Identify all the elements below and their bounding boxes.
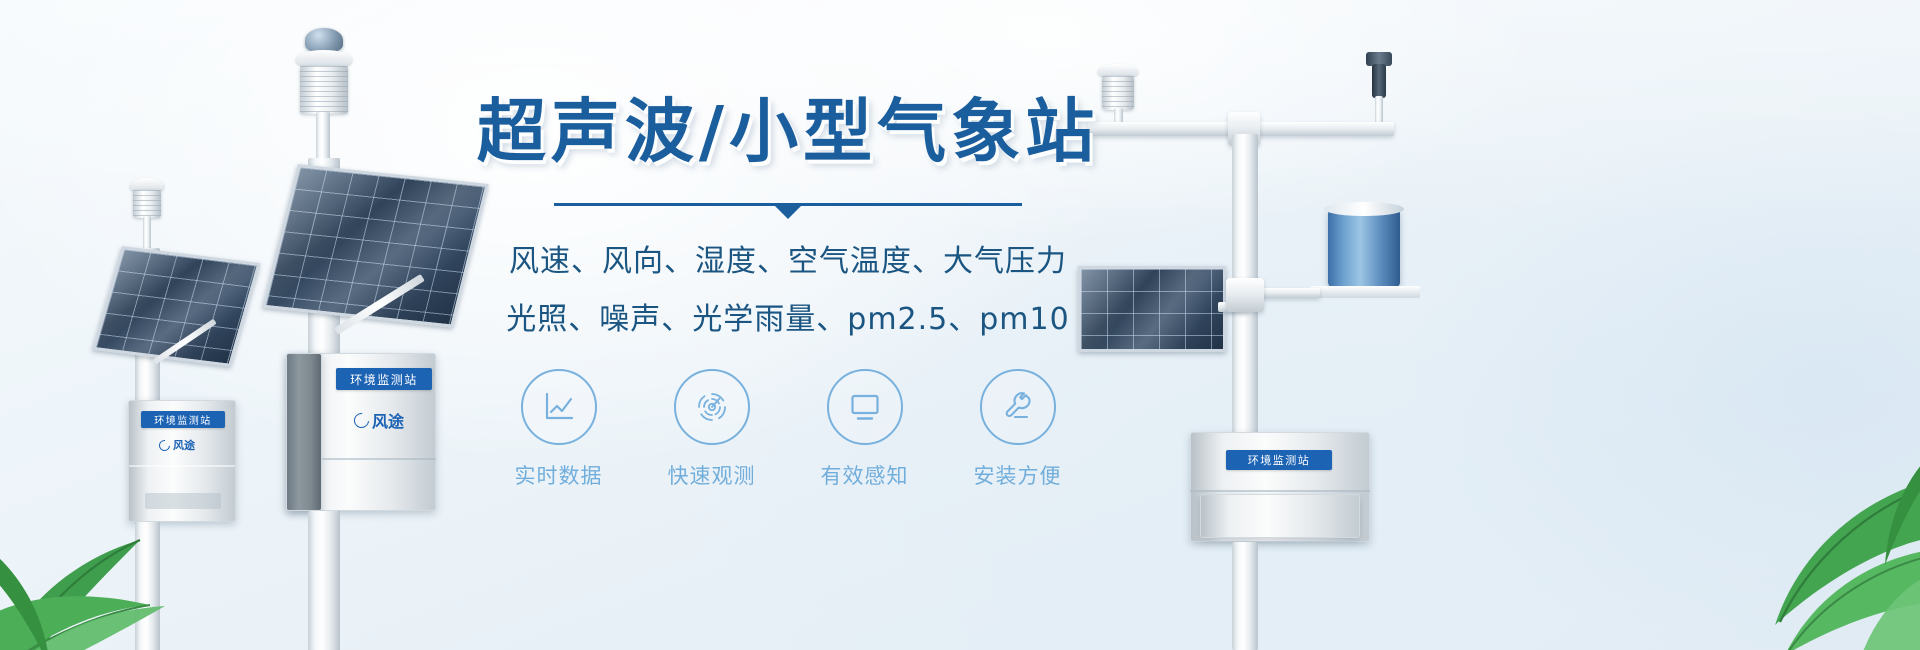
sensor-stem	[143, 216, 151, 250]
cabinet-vent	[145, 493, 221, 509]
sensor-stem	[316, 112, 330, 162]
feature-item-effective-sensing[interactable]: 有效感知	[811, 369, 919, 490]
mast-lower	[308, 511, 340, 650]
product-banner: 环境监测站 风途 环境监测站 风途	[0, 0, 1920, 650]
dome-sensor-icon	[305, 28, 343, 52]
cabinet-name-tag: 环境监测站	[141, 411, 225, 428]
mast-lower	[135, 522, 160, 650]
louver-fins	[300, 66, 348, 114]
cabinet-side-panel	[286, 353, 322, 511]
cabinet-seam	[1190, 490, 1370, 492]
brand-logo: 风途	[354, 408, 404, 432]
wrench-icon	[998, 387, 1038, 427]
feature-item-realtime-data[interactable]: 实时数据	[505, 369, 613, 490]
feature-label: 有效感知	[811, 460, 919, 490]
feature-list: 实时数据	[438, 369, 1138, 490]
equipment-cabinet: 环境监测站 风途	[128, 400, 236, 522]
line-chart-icon	[539, 387, 579, 427]
cabinet-lower-drawer	[1200, 494, 1360, 538]
title-divider	[554, 203, 1022, 217]
radiation-shield	[133, 190, 161, 218]
mast-lower	[1232, 542, 1258, 650]
cabinet-name-tag: 环境监测站	[1226, 450, 1332, 470]
page-title: 超声波/小型气象站	[438, 96, 1138, 169]
feature-icon-circle	[827, 369, 903, 445]
cabinet-seam	[322, 458, 436, 460]
brand-text: 风途	[372, 408, 404, 432]
feature-label: 实时数据	[505, 460, 613, 490]
mast-collar	[1226, 278, 1264, 312]
cabinet-seam	[129, 465, 235, 467]
feature-icon-circle	[980, 369, 1056, 445]
feature-icon-circle	[674, 369, 750, 445]
rain-gauge-shelf	[1310, 286, 1420, 298]
louver-fins	[133, 190, 161, 218]
radar-sensor-icon	[692, 387, 732, 427]
leaf-icon	[1775, 455, 1920, 650]
feature-item-fast-observation[interactable]: 快速观测	[658, 369, 766, 490]
brand-logo: 风途	[159, 437, 195, 453]
brand-text: 风途	[173, 437, 195, 453]
brand-mark-icon	[157, 437, 172, 452]
banner-content: 超声波/小型气象站 风速、风向、湿度、空气温度、大气压力 光照、噪声、光学雨量、…	[438, 96, 1138, 566]
feature-icon-circle	[521, 369, 597, 445]
brand-mark-icon	[351, 409, 372, 430]
feature-item-easy-installation[interactable]: 安装方便	[964, 369, 1072, 490]
feature-label: 安装方便	[964, 460, 1072, 490]
subtitle-line-2: 光照、噪声、光学雨量、pm2.5、pm10	[438, 294, 1138, 338]
radiation-shield	[300, 66, 348, 114]
optical-rain-gauge	[1328, 208, 1400, 288]
divider-triangle-icon	[775, 206, 801, 219]
feature-label: 快速观测	[658, 460, 766, 490]
monitor-display-icon	[845, 387, 885, 427]
subtitle-line-1: 风速、风向、湿度、空气温度、大气压力	[438, 236, 1138, 280]
cabinet-name-tag: 环境监测站	[336, 368, 432, 390]
wind-vane-body	[1372, 64, 1386, 98]
rain-gauge-rim	[1324, 202, 1404, 216]
decorative-leaves-right	[1600, 360, 1920, 650]
